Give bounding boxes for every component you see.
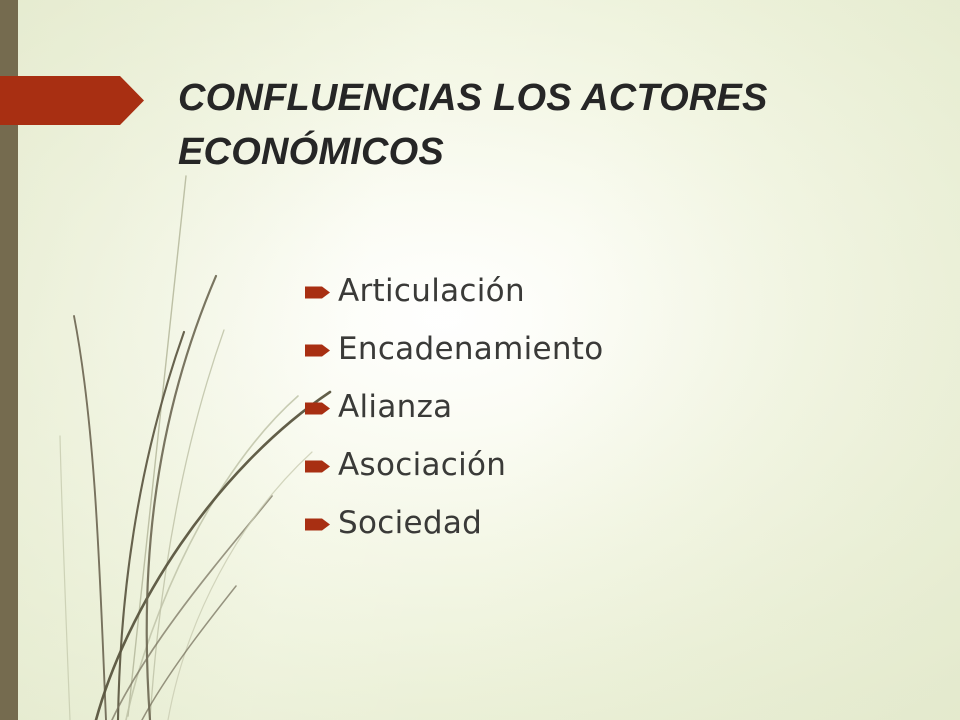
arrow-bullet-icon [305, 517, 330, 532]
list-item-label: Alianza [338, 392, 452, 423]
list-item-label: Articulación [338, 276, 525, 307]
slide-canvas: CONFLUENCIAS LOS ACTORES ECONÓMICOS Arti… [0, 0, 960, 720]
list-item[interactable]: Articulación [305, 262, 905, 320]
list-item-label: Asociación [338, 450, 506, 481]
bullet-list: Articulación Encadenamiento Alianza Asoc… [305, 262, 905, 552]
list-item-label: Sociedad [338, 508, 482, 539]
slide-title-line-2: ECONÓMICOS [178, 126, 878, 180]
list-item[interactable]: Asociación [305, 436, 905, 494]
list-item-label: Encadenamiento [338, 334, 604, 365]
list-item[interactable]: Sociedad [305, 494, 905, 552]
slide-title: CONFLUENCIAS LOS ACTORES ECONÓMICOS [178, 72, 878, 180]
list-item[interactable]: Alianza [305, 378, 905, 436]
red-arrow-banner [0, 76, 144, 125]
arrow-bullet-icon [305, 285, 330, 300]
arrow-bullet-icon [305, 343, 330, 358]
arrow-bullet-icon [305, 459, 330, 474]
list-item[interactable]: Encadenamiento [305, 320, 905, 378]
arrow-bullet-icon [305, 401, 330, 416]
slide-title-line-1: CONFLUENCIAS LOS ACTORES [178, 72, 878, 126]
